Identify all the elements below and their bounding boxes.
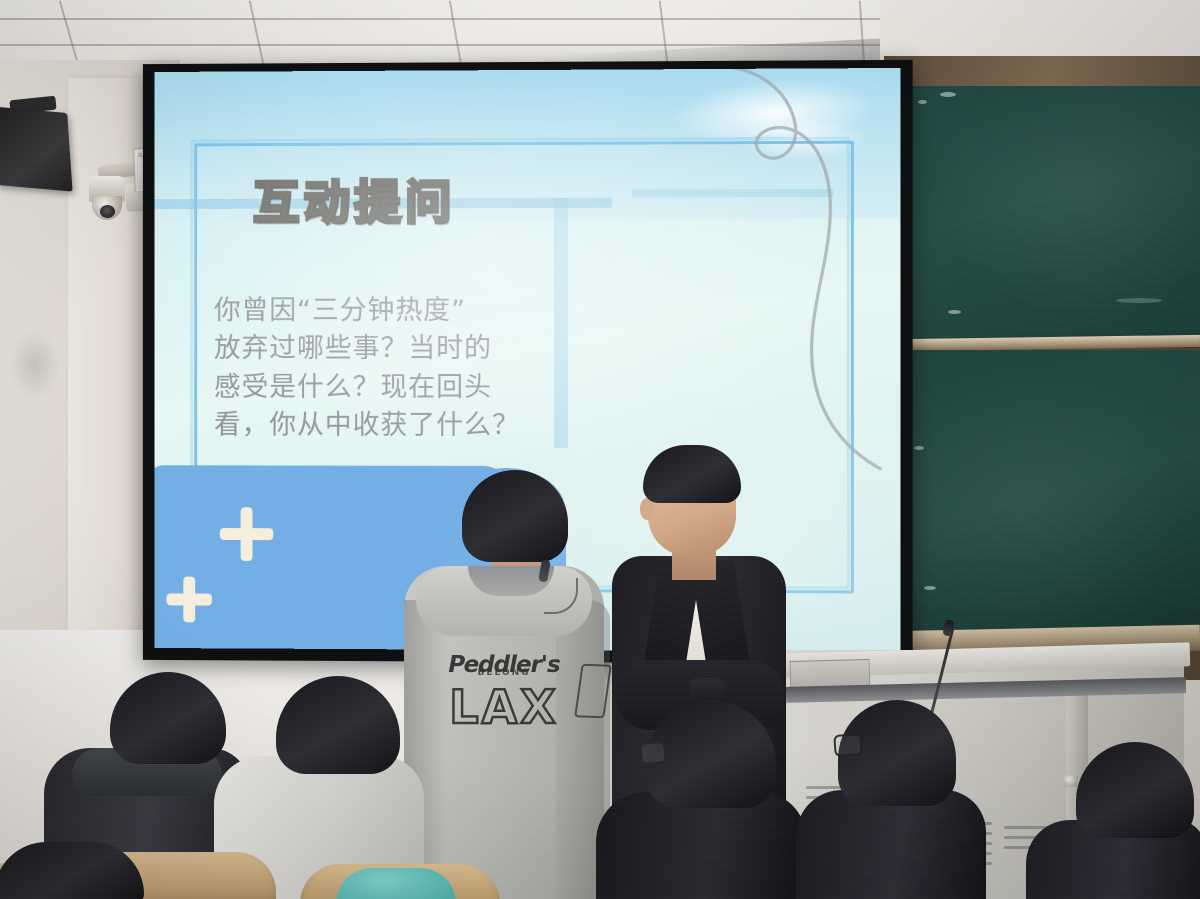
slide-body-line-2: 放弃过哪些事？当时的 (214, 330, 612, 368)
slide-title: 互动提问 (253, 166, 456, 232)
classroom-photo: 监控设备 互动提问 你曾因“三 (0, 0, 1200, 899)
student-right-glasses-icon (833, 733, 862, 757)
wall-speaker-icon (0, 106, 73, 191)
slide-plus-icon-1 (220, 507, 273, 561)
slide-swirl-icon (692, 68, 900, 485)
slide-body-line-1: 你曾因“三分钟热度” (214, 292, 612, 331)
slide-body-line-4: 看，你从中收获了什么？ (214, 407, 612, 446)
slide-body-line-3: 感受是什么？现在回头 (214, 369, 612, 407)
camera-lens-icon (100, 205, 115, 218)
slide-body-text: 你曾因“三分钟热度” 放弃过哪些事？当时的 感受是什么？现在回头 看，你从中收获… (214, 292, 612, 446)
podium-lock-icon (1064, 775, 1078, 787)
wall-smudge (10, 330, 60, 400)
student-center-body (596, 792, 806, 899)
slide-plus-icon-2 (167, 577, 212, 623)
student-right-body (796, 790, 986, 899)
student-center-glasses-icon (639, 741, 667, 766)
teal-bag (336, 868, 456, 899)
blackboard-lower-panel (906, 350, 1200, 632)
blackboard-upper-panel (906, 86, 1200, 340)
